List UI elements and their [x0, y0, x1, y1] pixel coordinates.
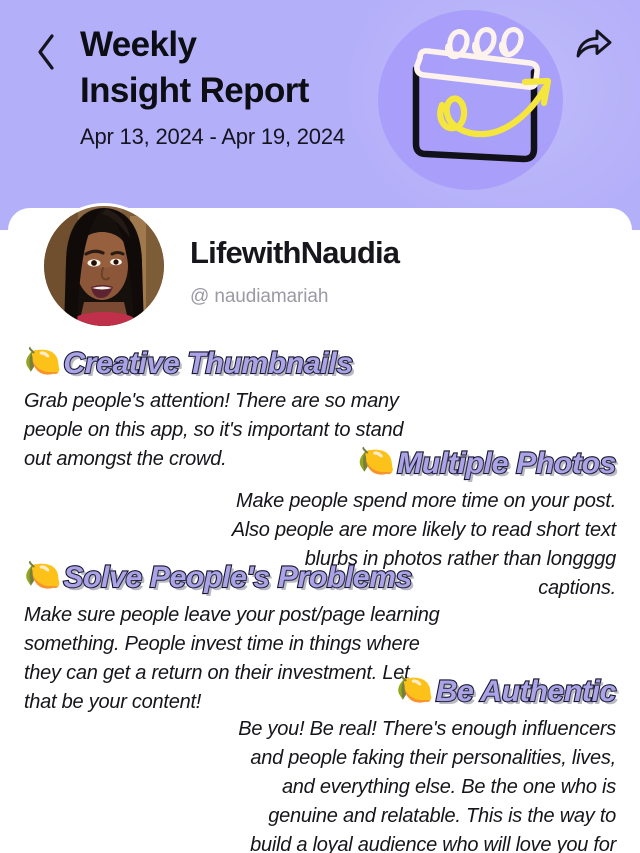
insight-section-be-authentic: 🍋 Be Authentic Be you! Be real! There's …: [230, 675, 616, 853]
insight-heading: 🍋 Multiple Photos: [226, 447, 616, 480]
insight-title: Multiple Photos: [397, 447, 616, 480]
back-button[interactable]: [28, 32, 64, 76]
page-title: Weekly Insight Report Apr 13, 2024 - Apr…: [80, 22, 410, 150]
date-range-label: Apr 13, 2024 - Apr 19, 2024: [80, 124, 410, 150]
insight-heading: 🍋 Creative Thumbnails: [24, 347, 414, 380]
insight-body: Be you! Be real! There's enough influenc…: [230, 715, 616, 853]
chevron-left-icon: [35, 33, 57, 76]
insight-title: Solve People's Problems: [63, 561, 412, 594]
lemon-icon: 🍋: [358, 447, 395, 477]
lemon-icon: 🍋: [396, 675, 433, 705]
share-arrow-icon: [574, 25, 614, 68]
profile-handle: @ naudiamariah: [190, 286, 328, 308]
weekly-insight-report-screen: Weekly Insight Report Apr 13, 2024 - Apr…: [0, 0, 640, 853]
insight-heading: 🍋 Solve People's Problems: [24, 561, 444, 594]
user-avatar-photo: [44, 206, 164, 326]
page-title-line-1: Weekly: [80, 22, 410, 68]
profile-name: LifewithNaudia: [190, 235, 399, 271]
lemon-icon: 🍋: [24, 561, 61, 591]
page-title-line-2: Insight Report: [80, 68, 410, 114]
insight-title: Be Authentic: [436, 675, 616, 708]
lemon-icon: 🍋: [24, 347, 61, 377]
insight-title: Creative Thumbnails: [63, 347, 352, 380]
avatar[interactable]: [44, 206, 164, 326]
insight-heading: 🍋 Be Authentic: [230, 675, 616, 708]
report-header: Weekly Insight Report Apr 13, 2024 - Apr…: [0, 0, 640, 230]
insights-list: 🍋 Creative Thumbnails Grab people's atte…: [0, 343, 640, 853]
